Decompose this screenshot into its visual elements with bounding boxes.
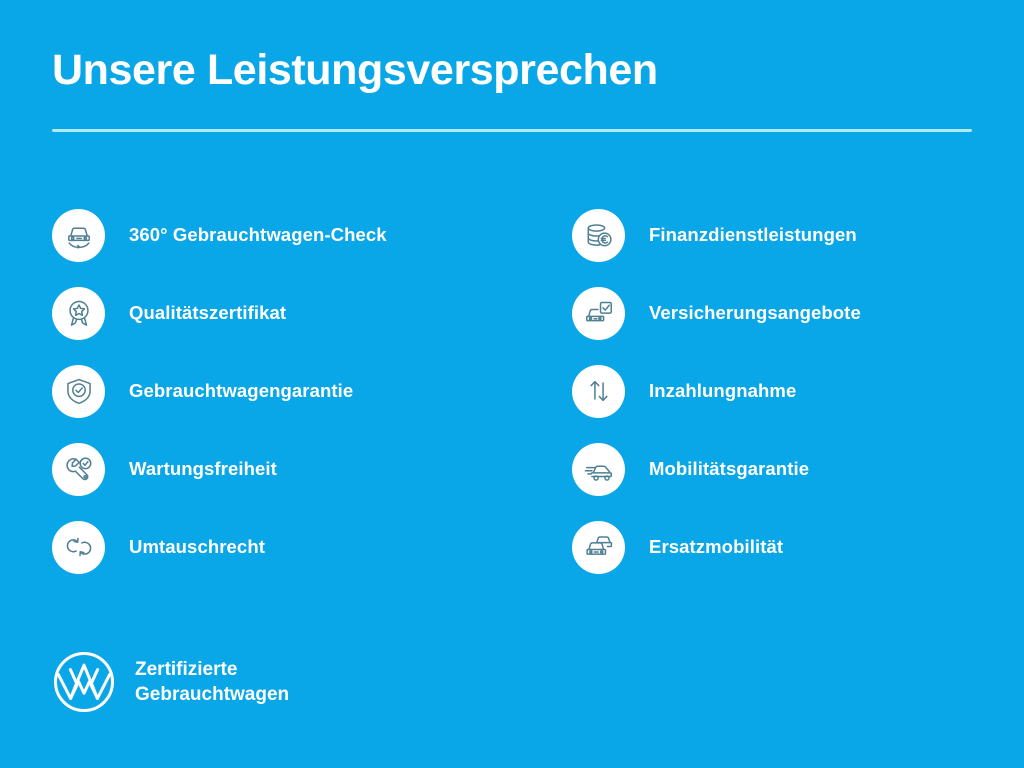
feature-item-gebrauchtwagengarantie[interactable]: Gebrauchtwagengarantie [52, 352, 512, 430]
arrows-up-down-icon [572, 365, 625, 418]
feature-item-wartungsfreiheit[interactable]: Wartungsfreiheit [52, 430, 512, 508]
feature-item-gebrauchtwagen-check[interactable]: 360° Gebrauchtwagen-Check [52, 196, 512, 274]
feature-label: Versicherungsangebote [649, 302, 861, 324]
feature-item-mobilitaetsgarantie[interactable]: Mobilitätsgarantie [572, 430, 1024, 508]
feature-item-finanzdienstleistungen[interactable]: Finanzdienstleistungen [572, 196, 1024, 274]
feature-label: 360° Gebrauchtwagen-Check [129, 224, 387, 246]
feature-item-versicherungsangebote[interactable]: Versicherungsangebote [572, 274, 1024, 352]
brand-text: Zertifizierte Gebrauchtwagen [135, 657, 289, 707]
feature-item-ersatzmobilitaet[interactable]: Ersatzmobilität [572, 508, 1024, 586]
brand-lockup: Zertifizierte Gebrauchtwagen [52, 650, 289, 714]
car-motion-icon [572, 443, 625, 496]
feature-column-right: Finanzdienstleistungen Versicherungsange… [512, 196, 1024, 586]
car-360-check-icon [52, 209, 105, 262]
car-checkbox-icon [572, 287, 625, 340]
exchange-arrows-icon [52, 521, 105, 574]
feature-label: Ersatzmobilität [649, 536, 783, 558]
promise-poster: Unsere Leistungsversprechen 3 [0, 0, 1024, 768]
two-cars-icon [572, 521, 625, 574]
feature-label: Qualitätszertifikat [129, 302, 286, 324]
feature-column-left: 360° Gebrauchtwagen-Check Qualitätszerti… [0, 196, 512, 586]
brand-text-line1: Zertifizierte [135, 659, 237, 680]
feature-label: Gebrauchtwagengarantie [129, 380, 353, 402]
wrench-check-icon [52, 443, 105, 496]
feature-columns: 360° Gebrauchtwagen-Check Qualitätszerti… [0, 196, 1024, 586]
feature-label: Inzahlungnahme [649, 380, 796, 402]
header-divider [52, 129, 972, 132]
feature-item-umtauschrecht[interactable]: Umtauschrecht [52, 508, 512, 586]
feature-item-qualitaetszertifikat[interactable]: Qualitätszertifikat [52, 274, 512, 352]
feature-item-inzahlungnahme[interactable]: Inzahlungnahme [572, 352, 1024, 430]
header: Unsere Leistungsversprechen [52, 48, 972, 93]
page-title: Unsere Leistungsversprechen [52, 48, 972, 93]
shield-check-icon [52, 365, 105, 418]
feature-label: Mobilitätsgarantie [649, 458, 809, 480]
feature-label: Finanzdienstleistungen [649, 224, 857, 246]
feature-label: Umtauschrecht [129, 536, 265, 558]
brand-text-line2: Gebrauchtwagen [135, 684, 289, 705]
volkswagen-logo [52, 650, 116, 714]
feature-label: Wartungsfreiheit [129, 458, 277, 480]
award-rosette-icon [52, 287, 105, 340]
coins-euro-icon [572, 209, 625, 262]
